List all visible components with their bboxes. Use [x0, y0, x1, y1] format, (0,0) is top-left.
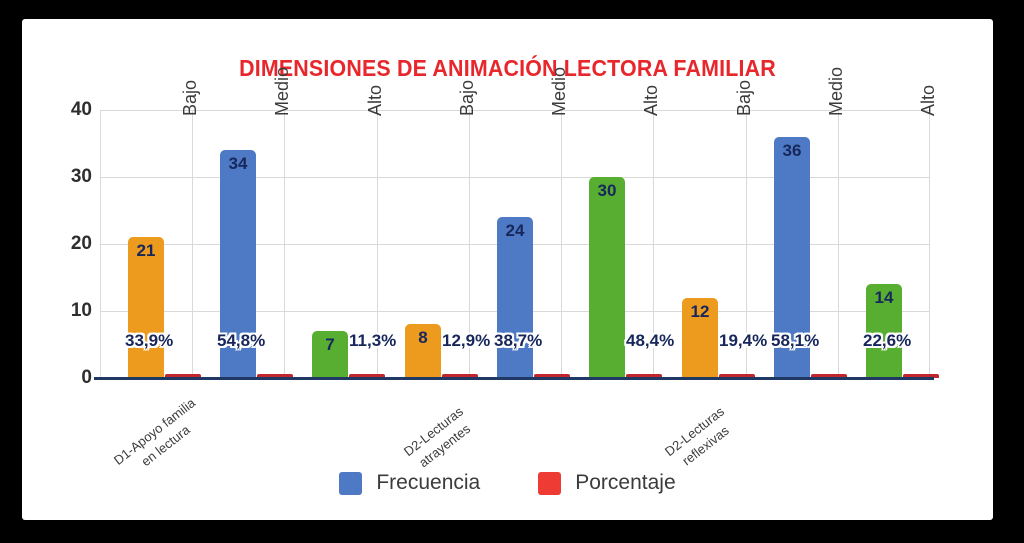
- y-axis: 40 30 20 10 0: [42, 110, 92, 378]
- category-label-3-line1: D2-Lecturas: [630, 379, 759, 485]
- bar-value-1: 21: [128, 241, 164, 261]
- bar-frecuencia-5[interactable]: 24: [497, 217, 533, 378]
- bar-value-9: 14: [866, 288, 902, 308]
- pct-label-7: 19,4%: [719, 331, 767, 351]
- pct-label-3: 11,3%: [349, 331, 396, 351]
- plot-area: 21 33,9% Bajo 34 54,8% Medio 7 11,3% Alt…: [100, 110, 930, 378]
- bar-value-3: 7: [312, 335, 348, 355]
- bar-frecuencia-6[interactable]: 30: [589, 177, 625, 378]
- bar-value-4: 8: [405, 328, 441, 348]
- vgridline-9: [929, 110, 930, 378]
- chart-frame: DIMENSIONES DE ANIMACIÓN LECTORA FAMILIA…: [0, 0, 1024, 543]
- x-axis-baseline: [94, 377, 934, 380]
- pct-label-8: 58,1%: [771, 331, 819, 351]
- bar-frecuencia-1[interactable]: 21: [128, 237, 164, 378]
- legend-label-porcentaje: Porcentaje: [575, 471, 675, 495]
- y-tick-40: 40: [52, 99, 92, 121]
- pct-label-6: 48,4%: [626, 331, 674, 351]
- chart-legend: Frecuencia Porcentaje: [22, 471, 993, 495]
- legend-item-porcentaje[interactable]: Porcentaje: [538, 471, 675, 495]
- pct-label-5: 38,7%: [494, 331, 542, 351]
- bar-value-8: 36: [774, 141, 810, 161]
- bar-value-2: 34: [220, 154, 256, 174]
- pct-label-2: 54,8%: [217, 331, 265, 351]
- chart-card: DIMENSIONES DE ANIMACIÓN LECTORA FAMILIA…: [22, 19, 993, 520]
- vgridline-0: [100, 110, 101, 378]
- bar-value-6: 30: [589, 181, 625, 201]
- category-label-1-line1: D1-Apoyo familia: [90, 379, 219, 485]
- vgridline-2: [284, 110, 285, 378]
- y-tick-30: 30: [52, 166, 92, 188]
- bar-frecuencia-4[interactable]: 8: [405, 324, 441, 378]
- vgridline-8: [838, 110, 839, 378]
- bar-frecuencia-7[interactable]: 12: [682, 298, 718, 378]
- y-tick-20: 20: [52, 233, 92, 255]
- pct-label-1: 33,9%: [125, 331, 173, 351]
- bar-value-5: 24: [497, 221, 533, 241]
- bar-frecuencia-3[interactable]: 7: [312, 331, 348, 378]
- chart-title: DIMENSIONES DE ANIMACIÓN LECTORA FAMILIA…: [56, 55, 959, 82]
- legend-swatch-frecuencia-icon: [339, 472, 362, 495]
- legend-item-frecuencia[interactable]: Frecuencia: [339, 471, 480, 495]
- vgridline-5: [561, 110, 562, 378]
- category-label-2-line1: D2-Lecturas: [369, 379, 498, 485]
- bar-value-7: 12: [682, 302, 718, 322]
- pct-label-9: 22,6%: [863, 331, 911, 351]
- y-tick-0: 0: [52, 367, 92, 389]
- y-tick-10: 10: [52, 300, 92, 322]
- gridline-40: [100, 110, 930, 111]
- vgridline-1: [192, 110, 193, 378]
- legend-label-frecuencia: Frecuencia: [376, 471, 480, 495]
- pct-label-4: 12,9%: [442, 331, 490, 351]
- legend-swatch-porcentaje-icon: [538, 472, 561, 495]
